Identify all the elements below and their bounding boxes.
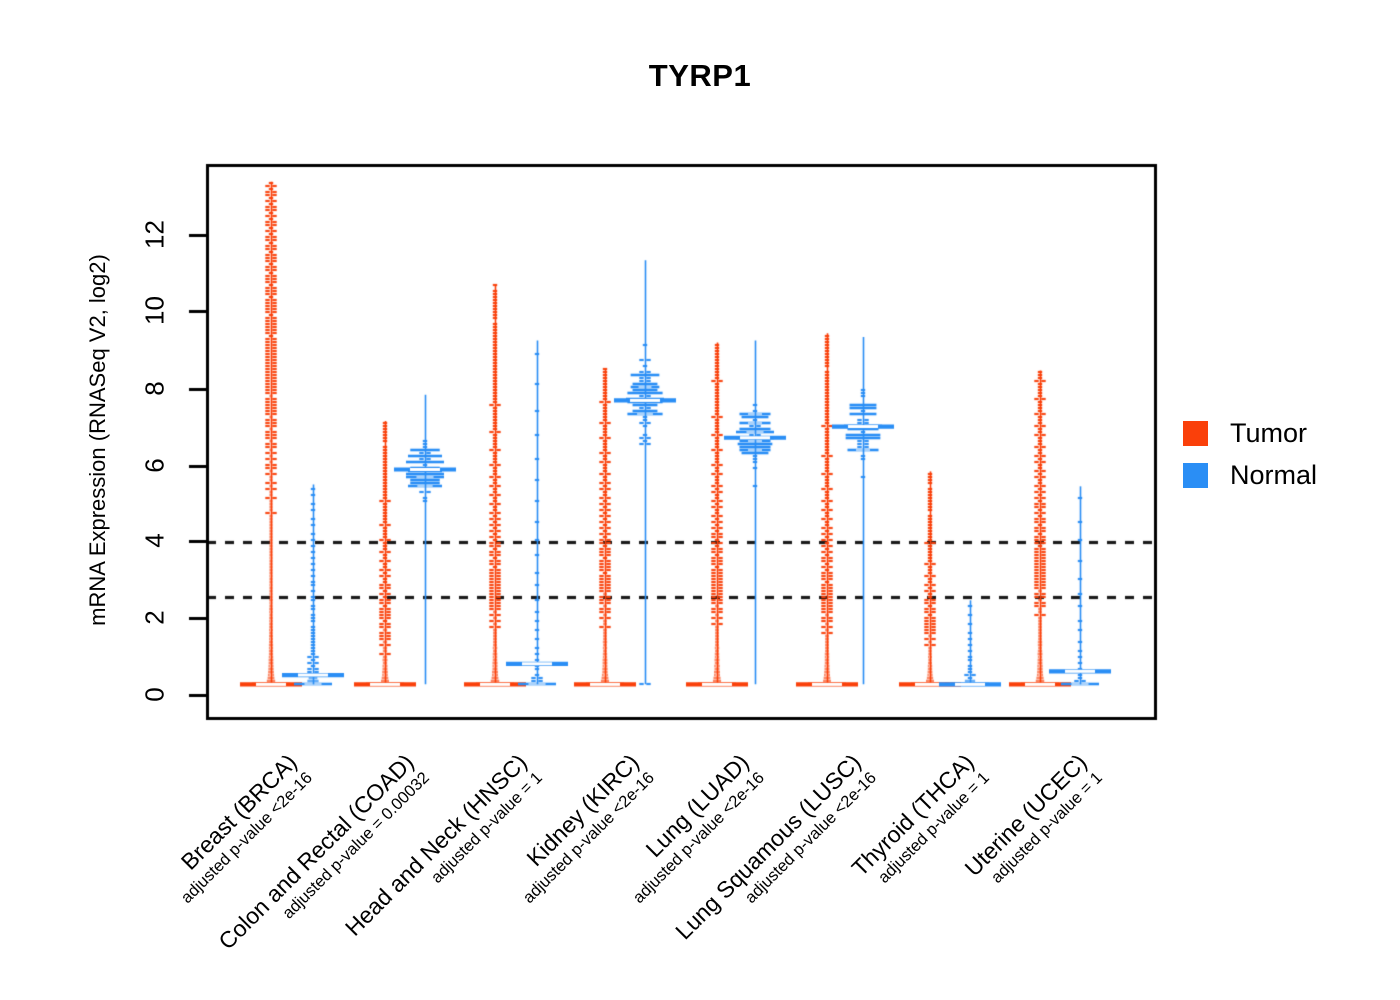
chart-legend: Tumor Normal [1183, 412, 1317, 496]
legend-swatch-normal [1183, 463, 1208, 488]
page-title: TYRP1 [0, 58, 1400, 94]
legend-item-normal[interactable]: Normal [1183, 454, 1317, 496]
y-tick-label: 6 [140, 446, 171, 486]
legend-swatch-tumor [1183, 421, 1208, 446]
y-tick-label: 2 [140, 598, 171, 638]
legend-label-normal: Normal [1230, 462, 1317, 489]
legend-item-tumor[interactable]: Tumor [1183, 412, 1317, 454]
chart-page: TYRP1 mRNA Expression (RNASeq V2, log2) … [0, 0, 1400, 1000]
y-axis-title: mRNA Expression (RNASeq V2, log2) [85, 160, 111, 720]
y-tick-label: 4 [140, 521, 171, 561]
y-tick-label: 12 [140, 215, 171, 255]
legend-label-tumor: Tumor [1230, 420, 1307, 447]
y-tick-label: 10 [140, 291, 171, 331]
y-tick-label: 8 [140, 369, 171, 409]
y-tick-label: 0 [140, 675, 171, 715]
